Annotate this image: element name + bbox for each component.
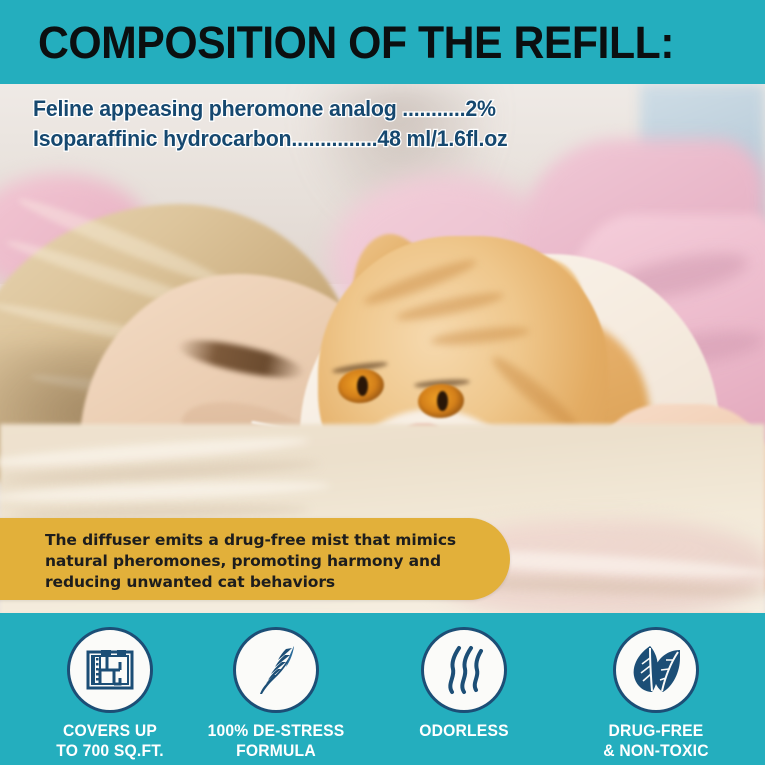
feature-odorless-label-line1: ODORLESS — [419, 722, 508, 740]
feature-coverage: COVERS UP TO 700 SQ.FT. — [14, 613, 206, 765]
features-strip: COVERS UP TO 700 SQ.FT. 100% DE-STRESS — [0, 613, 765, 765]
feature-coverage-label-line2: TO 700 SQ.FT. — [19, 741, 201, 761]
page-title: COMPOSITION OF THE REFILL: — [38, 16, 674, 70]
feather-icon — [250, 642, 302, 698]
header-banner: COMPOSITION OF THE REFILL: — [0, 0, 765, 84]
feature-coverage-circle — [67, 627, 153, 713]
feature-drugfree-label-line1: DRUG-FREE — [609, 722, 704, 740]
feature-destress-label: 100% DE-STRESS FORMULA — [185, 721, 367, 761]
feature-drugfree-label: DRUG-FREE & NON-TOXIC — [565, 721, 747, 761]
feature-destress-label-line2: FORMULA — [185, 741, 367, 761]
benefit-callout: The diffuser emits a drug-free mist that… — [0, 518, 510, 600]
benefit-callout-text: The diffuser emits a drug-free mist that… — [45, 530, 475, 593]
leaves-icon — [628, 644, 684, 696]
feature-coverage-label: COVERS UP TO 700 SQ.FT. — [19, 721, 201, 761]
feature-destress-label-line1: 100% DE-STRESS — [208, 722, 345, 740]
feature-drugfree: DRUG-FREE & NON-TOXIC — [560, 613, 752, 765]
feature-drugfree-circle — [613, 627, 699, 713]
feature-coverage-label-line1: COVERS UP — [63, 722, 157, 740]
odor-waves-icon — [441, 644, 487, 696]
composition-list: Feline appeasing pheromone analog ......… — [33, 94, 522, 154]
composition-line-1: Feline appeasing pheromone analog ......… — [33, 94, 508, 124]
floor-plan-icon — [84, 646, 136, 694]
product-infographic: COMPOSITION OF THE REFILL: Feline appeas… — [0, 0, 765, 765]
feature-odorless-circle — [421, 627, 507, 713]
photo-cat-pupil-left — [357, 376, 368, 396]
feature-odorless-label: ODORLESS — [373, 721, 555, 741]
feature-destress-circle — [233, 627, 319, 713]
photo-cat-pupil-right — [437, 391, 448, 411]
feature-odorless: ODORLESS — [368, 613, 560, 765]
feature-destress: 100% DE-STRESS FORMULA — [180, 613, 372, 765]
composition-line-2: Isoparaffinic hydrocarbon...............… — [33, 124, 508, 154]
feature-drugfree-label-line2: & NON-TOXIC — [565, 741, 747, 761]
